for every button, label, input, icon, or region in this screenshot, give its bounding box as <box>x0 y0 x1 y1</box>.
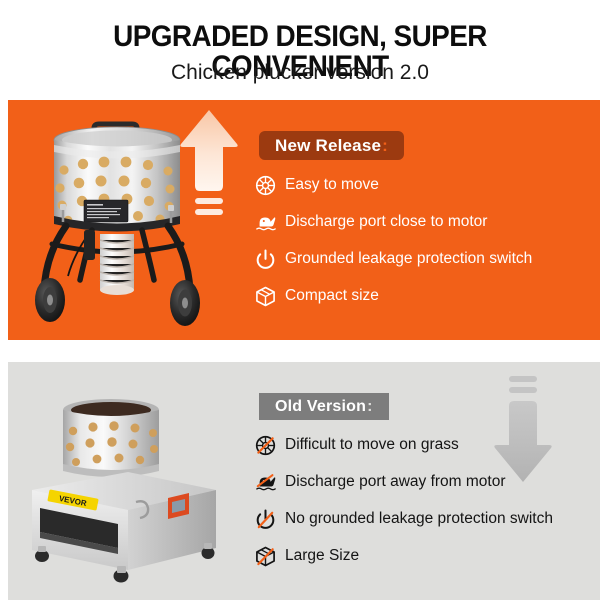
feature-label: Grounded leakage protection switch <box>285 251 532 267</box>
arrow-up-icon <box>178 108 240 226</box>
feature-item: Difficult to move on grass <box>255 428 595 462</box>
feature-label: Discharge port away from motor <box>285 474 506 490</box>
water-discharge-icon <box>255 470 285 494</box>
feature-label: Large Size <box>285 548 359 564</box>
caster-wheel-icon <box>255 173 285 197</box>
feature-label: Easy to move <box>285 177 379 193</box>
feature-label: Difficult to move on grass <box>285 437 459 453</box>
page-subtitle: Chicken plucker version 2.0 <box>0 62 600 83</box>
power-switch-icon <box>255 247 285 271</box>
product-image-old: VEVOR <box>18 398 230 590</box>
infographic-page: UPGRADED DESIGN, SUPER CONVENIENT Chicke… <box>0 0 600 600</box>
water-discharge-icon <box>255 210 285 234</box>
feature-item: No grounded leakage protection switch <box>255 502 595 536</box>
feature-item: Easy to move <box>255 168 595 202</box>
feature-item: Large Size <box>255 539 595 573</box>
box-size-icon <box>255 544 285 568</box>
feature-label: No grounded leakage protection switch <box>285 511 553 527</box>
feature-item: Discharge port away from motor <box>255 465 595 499</box>
old-version-feature-list: Difficult to move on grass Discharge por… <box>255 428 595 576</box>
new-release-badge-colon: : <box>382 136 388 156</box>
feature-label: Compact size <box>285 288 379 304</box>
new-release-badge-label: New Release <box>275 136 381 156</box>
header: UPGRADED DESIGN, SUPER CONVENIENT Chicke… <box>0 0 600 98</box>
feature-item: Grounded leakage protection switch <box>255 242 595 276</box>
old-version-badge-colon: : <box>367 398 373 416</box>
power-switch-icon <box>255 507 285 531</box>
old-version-badge: Old Version: <box>259 393 389 420</box>
feature-item: Discharge port close to motor <box>255 205 595 239</box>
new-release-badge: New Release: <box>259 131 404 160</box>
old-version-badge-label: Old Version <box>275 398 366 416</box>
feature-label: Discharge port close to motor <box>285 214 487 230</box>
new-release-feature-list: Easy to move Discharge port close to mot… <box>255 168 595 316</box>
caster-wheel-icon <box>255 433 285 457</box>
box-size-icon <box>255 284 285 308</box>
feature-item: Compact size <box>255 279 595 313</box>
